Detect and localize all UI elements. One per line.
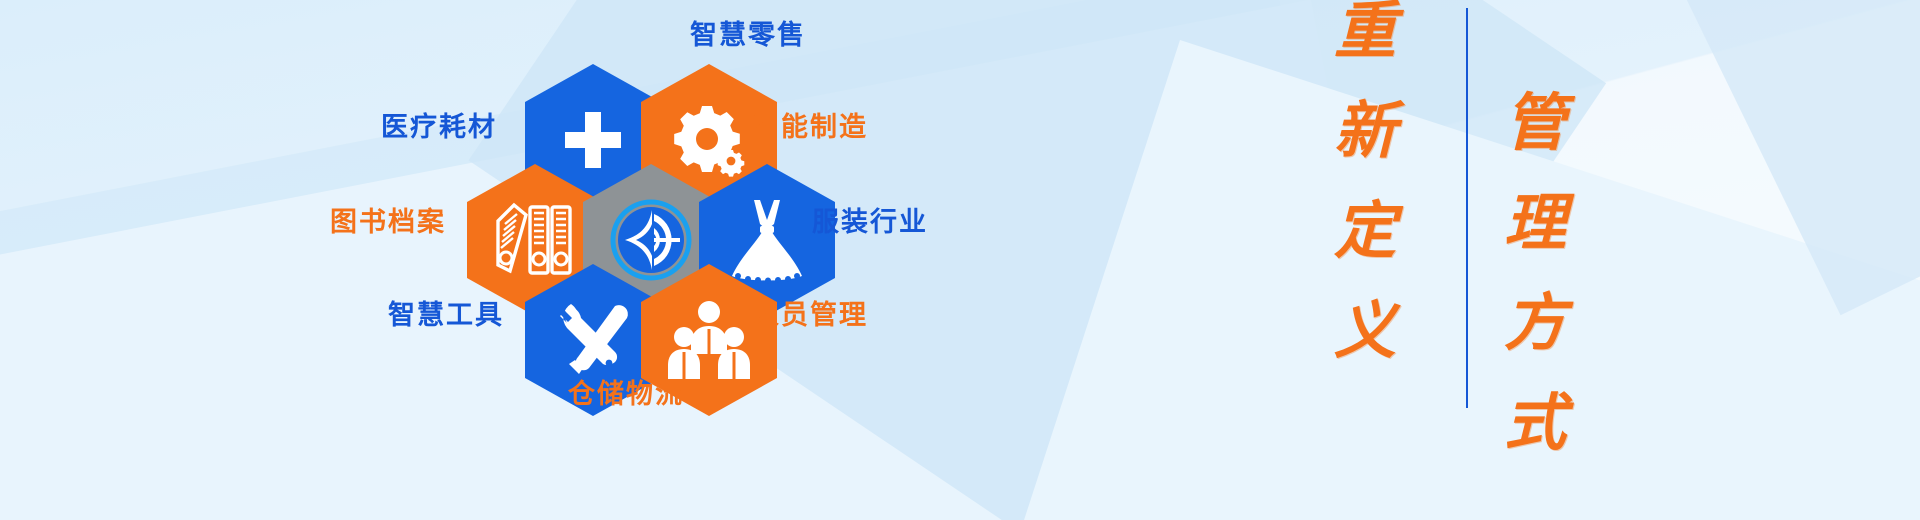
slogan-char: 义 (1334, 300, 1396, 362)
gear-icon (671, 102, 747, 178)
label-personnel: 人员管理 (752, 293, 868, 332)
slogan-char: 理 (1504, 192, 1566, 254)
wrench-screwdriver-icon (551, 298, 635, 382)
promo-banner: 智慧零售 医疗耗材 智能制造 图书档案 服装行业 智慧工具 人员管理 仓储物流 … (0, 0, 1920, 520)
slogan-char: 管 (1504, 92, 1566, 154)
medical-cross-icon (557, 104, 629, 176)
slogan-divider (1466, 8, 1468, 408)
hexagon-cluster (0, 0, 1100, 520)
slogan-char: 定 (1334, 200, 1396, 262)
label-apparel: 服装行业 (812, 200, 928, 239)
slogan-char: 方 (1504, 292, 1566, 354)
slogan-column-right: 管 理 方 式 (1504, 0, 1566, 492)
label-retail: 智慧零售 (690, 13, 806, 52)
dress-icon (724, 196, 810, 284)
label-manufacturing: 智能制造 (752, 105, 868, 144)
slogan-char: 式 (1504, 392, 1566, 454)
slogan-block: 重 新 定 义 管 理 方 式 (1300, 0, 1920, 520)
label-medical: 医疗耗材 (381, 105, 497, 144)
slogan-char: 新 (1334, 100, 1396, 162)
people-group-icon (666, 299, 752, 381)
label-warehouse: 仓储物流 (568, 372, 684, 411)
rfid-signal-logo-icon (605, 194, 697, 286)
slogan-char: 重 (1334, 0, 1396, 62)
label-tools: 智慧工具 (388, 293, 504, 332)
binder-files-icon (492, 199, 578, 281)
label-books: 图书档案 (330, 200, 446, 239)
slogan-column-left: 重 新 定 义 (1334, 0, 1396, 400)
